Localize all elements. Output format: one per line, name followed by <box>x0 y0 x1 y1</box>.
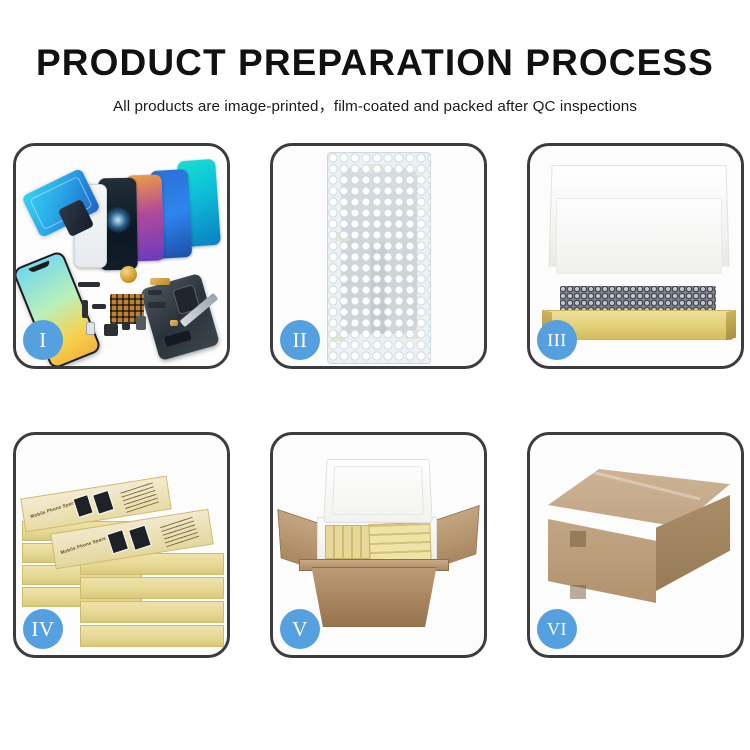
box-artwork-2b <box>128 525 152 551</box>
box-artwork-2a <box>106 529 129 554</box>
process-step-panel-5[interactable]: V <box>270 432 487 658</box>
box-spec-lines-2 <box>160 516 199 547</box>
box-artwork-1a <box>72 494 93 518</box>
part-button <box>122 322 130 330</box>
carton-tape-lower <box>570 585 586 599</box>
step-badge-2: II <box>280 320 320 360</box>
page-title: PRODUCT PREPARATION PROCESS <box>0 44 750 81</box>
part-sim-tray <box>86 322 95 335</box>
step-badge-5: V <box>280 609 320 649</box>
step-badge-3: III <box>537 320 577 360</box>
page-subtitle: All products are image-printed，film-coat… <box>0 94 750 116</box>
box-artwork-1b <box>92 490 115 515</box>
foam-sheet-icon <box>556 198 722 274</box>
step-badge-6: VI <box>537 609 577 649</box>
part-camera <box>136 316 146 330</box>
step-badge-4: IV <box>23 609 63 649</box>
part-cable <box>92 304 106 309</box>
small-parts-cluster <box>78 264 196 352</box>
stack-box-r2 <box>80 577 224 599</box>
process-step-panel-2[interactable]: II <box>270 143 487 369</box>
part-flex <box>148 290 162 295</box>
vibrator-motor-icon <box>120 266 137 283</box>
product-preparation-infographic: PRODUCT PREPARATION PROCESS All products… <box>0 0 750 750</box>
part-bracket <box>82 300 88 318</box>
box-spec-lines-1 <box>120 481 159 512</box>
process-step-panel-3[interactable]: III <box>527 143 744 369</box>
part-speaker <box>104 324 118 336</box>
styrofoam-lid-icon <box>323 459 432 523</box>
part-screw <box>170 320 178 326</box>
carton-body <box>303 567 445 627</box>
part-ribbon <box>148 302 166 308</box>
process-step-panel-1[interactable]: I <box>13 143 230 369</box>
process-step-panel-6[interactable]: VI <box>527 432 744 658</box>
part-strip <box>78 282 100 287</box>
carton-tape-upper <box>570 531 586 547</box>
product-boxes-stack <box>368 522 431 562</box>
stack-box-r3 <box>80 601 224 623</box>
header: PRODUCT PREPARATION PROCESS All products… <box>0 0 750 116</box>
part-connector <box>150 278 170 285</box>
bubble-bag-icon <box>327 152 431 364</box>
process-step-grid: I II III <box>13 143 745 658</box>
stack-box-r4 <box>80 625 224 647</box>
carton-front-face <box>548 519 656 603</box>
step-badge-1: I <box>23 320 63 360</box>
process-step-panel-4[interactable]: Mobile Phone Spare Parts Mobile Phone Sp… <box>13 432 230 658</box>
